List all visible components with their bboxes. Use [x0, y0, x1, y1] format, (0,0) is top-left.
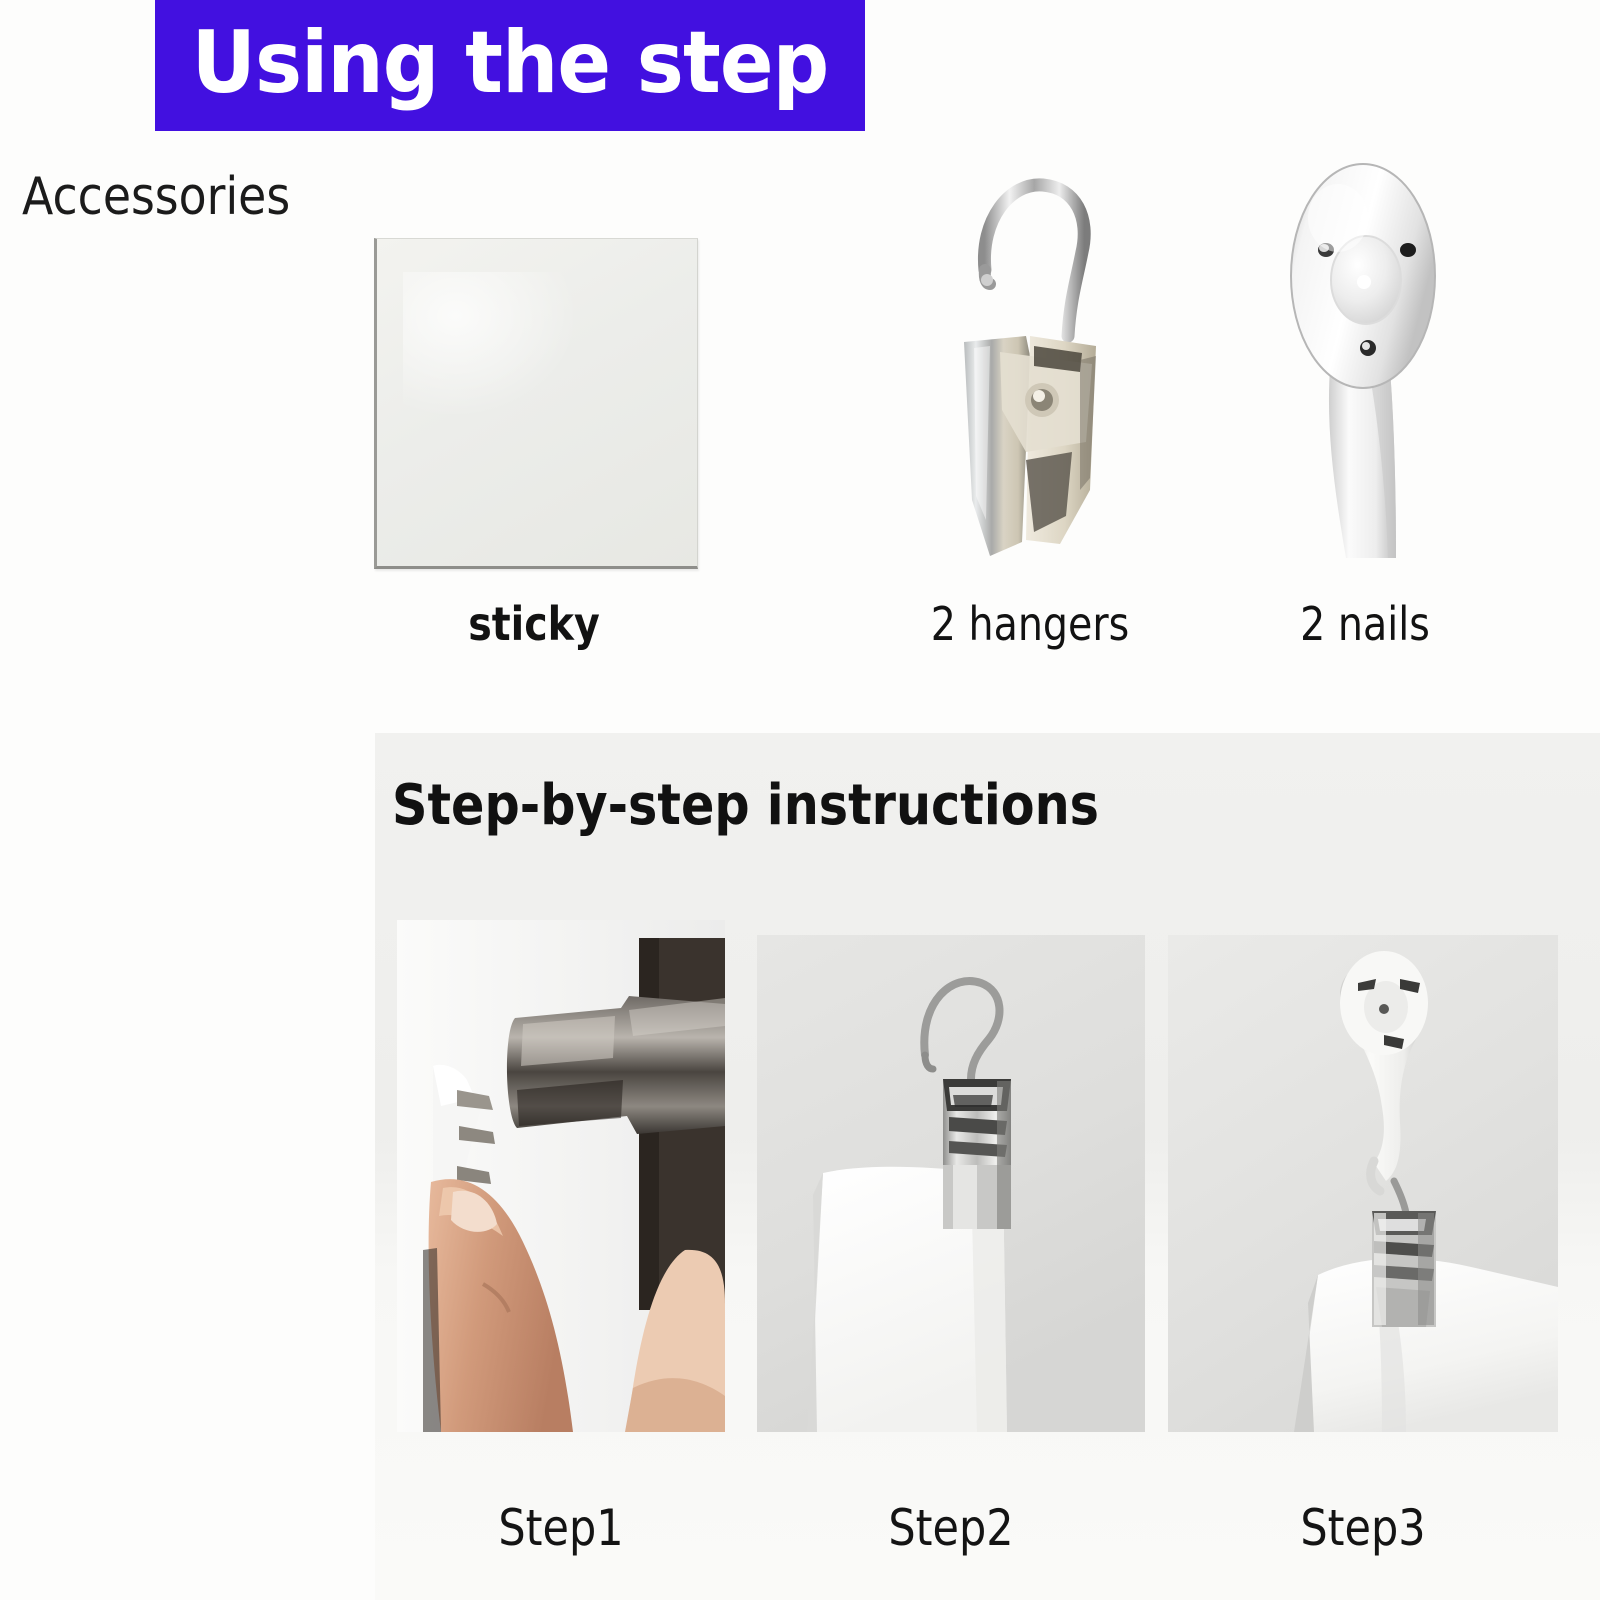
step-caption-1: Step1: [420, 1500, 702, 1556]
step-3-image: [1168, 935, 1558, 1432]
accessory-caption-nails: 2 nails: [1236, 598, 1494, 650]
step-caption-3: Step3: [1195, 1500, 1530, 1556]
instructions-heading: Step-by-step instructions: [392, 775, 1099, 837]
adhesive-sticky-pad-icon: [374, 238, 698, 569]
accessory-caption-sticky: sticky: [396, 598, 671, 650]
accessories-section-label: Accessories: [22, 168, 290, 226]
step-caption-2: Step2: [784, 1500, 1118, 1556]
accessory-caption-hangers: 2 hangers: [901, 598, 1159, 650]
page-title: Using the step: [192, 20, 829, 112]
step-2-image: [757, 935, 1145, 1432]
header-banner: Using the step: [155, 0, 865, 131]
white-wall-nail-hook-icon: [1268, 158, 1458, 558]
step-1-image: [397, 920, 725, 1432]
metal-hook-clip-icon: [930, 160, 1130, 560]
